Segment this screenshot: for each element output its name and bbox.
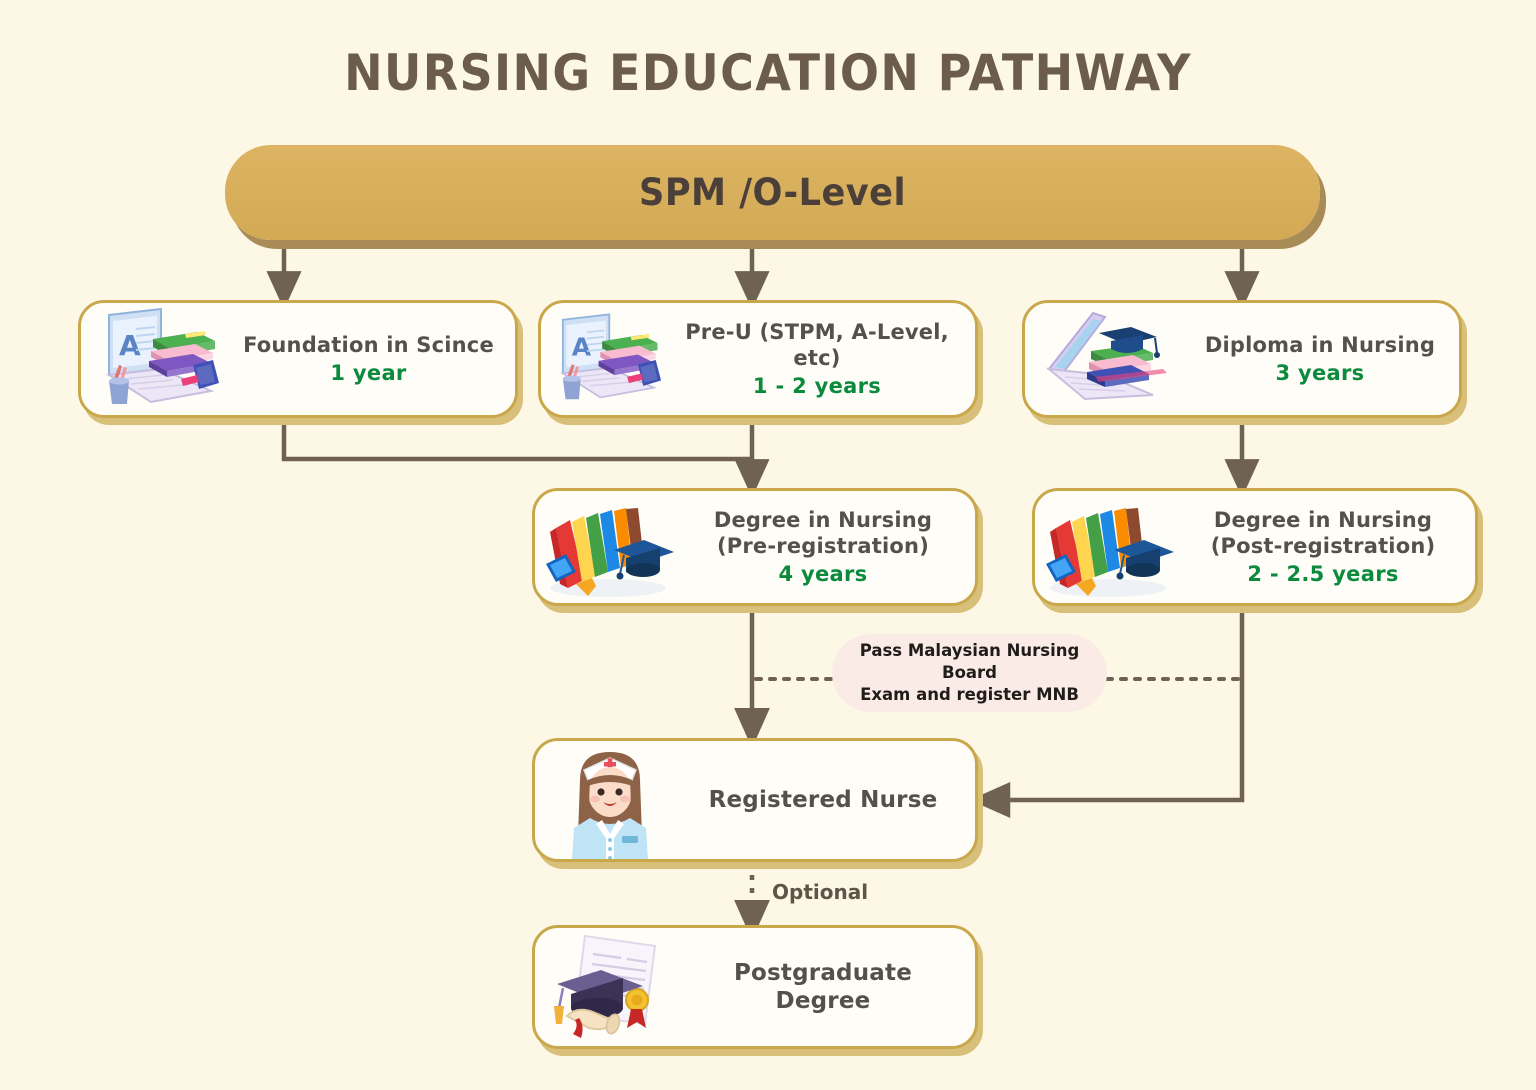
node-degree-post-title: Degree in Nursing (Post-registration) bbox=[1185, 508, 1461, 559]
node-pre-u-text: Pre-U (STPM, A-Level, etc) 1 - 2 years bbox=[673, 320, 975, 398]
laptop-books-icon: A bbox=[541, 300, 673, 418]
node-degree-pre-registration[interactable]: Degree in Nursing (Pre-registration) 4 y… bbox=[532, 488, 978, 606]
node-pre-u-title: Pre-U (STPM, A-Level, etc) bbox=[673, 320, 961, 371]
svg-text:A: A bbox=[119, 329, 141, 362]
nurse-icon bbox=[535, 738, 685, 862]
node-postgraduate-degree[interactable]: Postgraduate Degree bbox=[532, 925, 978, 1049]
node-foundation-in-science[interactable]: A bbox=[78, 300, 518, 418]
diagram-canvas: NURSING EDUCATION PATHWAY bbox=[0, 0, 1536, 1090]
node-degree-pre-duration: 4 years bbox=[685, 562, 961, 586]
node-degree-post-registration[interactable]: Degree in Nursing (Post-registration) 2 … bbox=[1032, 488, 1478, 606]
gate-mnb-line2: Exam and register MNB bbox=[844, 684, 1095, 706]
svg-text:A: A bbox=[571, 332, 591, 361]
node-degree-pre-title: Degree in Nursing (Pre-registration) bbox=[685, 508, 961, 559]
node-spm-olevel[interactable]: SPM /O-Level bbox=[225, 145, 1320, 240]
arrow-foundation-elbow bbox=[284, 422, 752, 459]
node-degree-pre-text: Degree in Nursing (Pre-registration) 4 y… bbox=[685, 508, 975, 586]
node-postgraduate-title: Postgraduate Degree bbox=[685, 959, 961, 1015]
books-gradcap-icon bbox=[535, 488, 685, 606]
node-degree-post-text: Degree in Nursing (Post-registration) 2 … bbox=[1185, 508, 1475, 586]
optional-label: Optional bbox=[772, 880, 868, 904]
node-diploma-text: Diploma in Nursing 3 years bbox=[1195, 333, 1459, 386]
node-registered-nurse[interactable]: Registered Nurse bbox=[532, 738, 978, 862]
gate-mnb-label: Pass Malaysian Nursing Board Exam and re… bbox=[844, 640, 1095, 707]
node-postgraduate-text: Postgraduate Degree bbox=[685, 959, 975, 1015]
node-pre-u-duration: 1 - 2 years bbox=[673, 374, 961, 398]
node-registered-nurse-text: Registered Nurse bbox=[685, 786, 975, 814]
node-diploma-duration: 3 years bbox=[1195, 361, 1445, 385]
node-diploma-title: Diploma in Nursing bbox=[1195, 333, 1445, 359]
gate-mnb-exam: Pass Malaysian Nursing Board Exam and re… bbox=[832, 634, 1107, 712]
node-foundation-duration: 1 year bbox=[236, 361, 501, 385]
diploma-gradcap-icon bbox=[535, 925, 685, 1049]
laptop-gradcap-books-icon bbox=[1025, 300, 1195, 418]
gate-mnb-line1: Pass Malaysian Nursing Board bbox=[844, 640, 1095, 685]
node-pre-u[interactable]: A bbox=[538, 300, 978, 418]
books-gradcap-icon bbox=[1035, 488, 1185, 606]
node-diploma-in-nursing[interactable]: Diploma in Nursing 3 years bbox=[1022, 300, 1462, 418]
node-degree-post-duration: 2 - 2.5 years bbox=[1185, 562, 1461, 586]
laptop-books-icon: A bbox=[81, 300, 236, 418]
node-foundation-text: Foundation in Scince 1 year bbox=[236, 333, 515, 386]
node-registered-nurse-title: Registered Nurse bbox=[685, 786, 961, 814]
node-spm-label: SPM /O-Level bbox=[639, 171, 906, 214]
node-foundation-title: Foundation in Scince bbox=[236, 333, 501, 359]
